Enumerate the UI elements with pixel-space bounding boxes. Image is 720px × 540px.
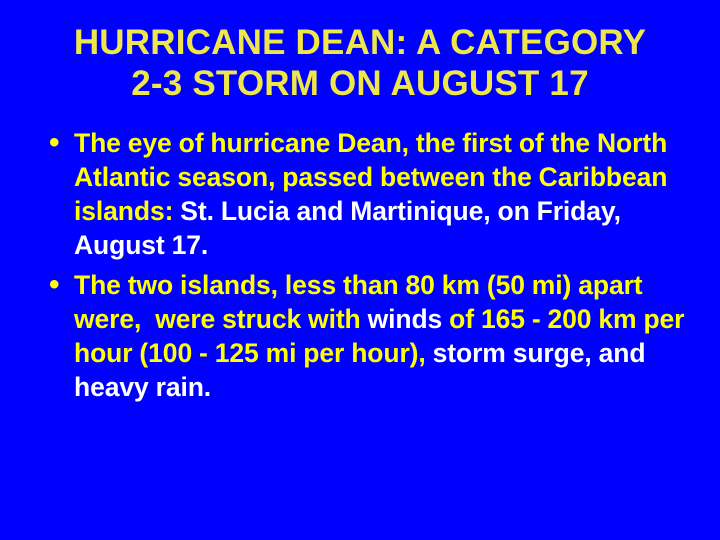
- bullet-text: The eye of hurricane Dean, the first of …: [74, 126, 696, 262]
- bullet-item: • The two islands, less than 80 km (50 m…: [36, 268, 696, 404]
- bullet-point-icon: •: [49, 268, 60, 302]
- slide-title-line-2: 2-3 STORM ON AUGUST 17: [28, 63, 692, 104]
- bullet-item: • The eye of hurricane Dean, the first o…: [36, 126, 696, 262]
- text-run-1: winds: [368, 304, 443, 334]
- bullet-point-icon: •: [49, 126, 60, 160]
- bullet-text: The two islands, less than 80 km (50 mi)…: [74, 268, 696, 404]
- slide-body: • The eye of hurricane Dean, the first o…: [36, 126, 696, 404]
- presentation-slide: HURRICANE DEAN: A CATEGORY 2-3 STORM ON …: [0, 0, 720, 540]
- slide-title-line-1: HURRICANE DEAN: A CATEGORY: [28, 22, 692, 63]
- slide-title: HURRICANE DEAN: A CATEGORY 2-3 STORM ON …: [28, 22, 692, 104]
